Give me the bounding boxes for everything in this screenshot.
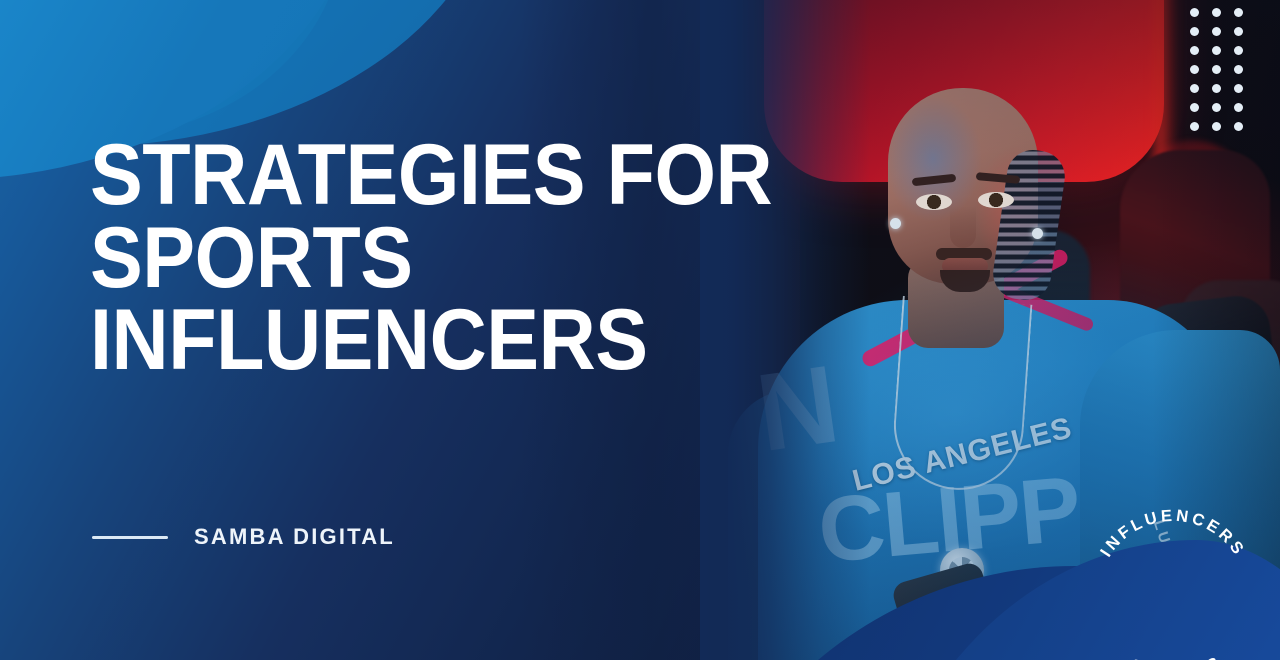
badge-bottom-text: SPORTS — [1125, 653, 1222, 660]
dot-grid-dot — [1190, 65, 1199, 74]
subject-nose — [950, 206, 976, 248]
dot-grid-dot — [1234, 122, 1243, 131]
dot-grid-dot — [1212, 8, 1221, 17]
dot-grid-dot — [1234, 103, 1243, 112]
dot-grid-dot — [1212, 84, 1221, 93]
subject-hair — [880, 68, 1048, 180]
dot-grid-dot — [1212, 46, 1221, 55]
dot-grid-dot — [1234, 65, 1243, 74]
subtitle-divider-rule — [92, 536, 168, 539]
subject-earring-left — [890, 218, 901, 229]
badge-top-text: INFLUENCERS — [1097, 507, 1249, 560]
circular-badge-svg: INFLUENCERS SPORTS — [1089, 511, 1257, 660]
circular-badge: INFLUENCERS SPORTS — [1089, 511, 1257, 660]
brand-subtitle: SAMBA DIGITAL — [92, 524, 395, 550]
dot-grid-dot — [1212, 122, 1221, 131]
subject-earring-right — [1032, 228, 1043, 239]
dot-grid-dot — [1212, 27, 1221, 36]
headline-line-3: INFLUENCERS — [90, 299, 697, 382]
dot-grid-dot — [1190, 84, 1199, 93]
decorative-dot-grid — [1190, 8, 1256, 141]
dot-grid-dot — [1190, 122, 1199, 131]
dot-grid-dot — [1190, 8, 1199, 17]
dot-grid-dot — [1234, 8, 1243, 17]
dot-grid-dot — [1190, 46, 1199, 55]
dot-grid-dot — [1234, 46, 1243, 55]
dot-grid-dot — [1190, 27, 1199, 36]
subject-eye-left — [916, 194, 952, 210]
dot-grid-dot — [1212, 65, 1221, 74]
dot-grid-dot — [1234, 84, 1243, 93]
headline-line-1: STRATEGIES FOR — [90, 134, 697, 217]
subtitle-label: SAMBA DIGITAL — [194, 524, 395, 550]
subject-eye-right — [978, 192, 1014, 208]
promo-banner: N CLIPPERS LOS ANGELES LUEM — [0, 0, 1280, 660]
dot-grid-dot — [1212, 103, 1221, 112]
page-title: STRATEGIES FOR SPORTS INFLUENCERS — [90, 134, 750, 382]
dot-grid-dot — [1190, 103, 1199, 112]
headline-line-2: SPORTS — [90, 217, 697, 300]
dot-grid-dot — [1234, 27, 1243, 36]
